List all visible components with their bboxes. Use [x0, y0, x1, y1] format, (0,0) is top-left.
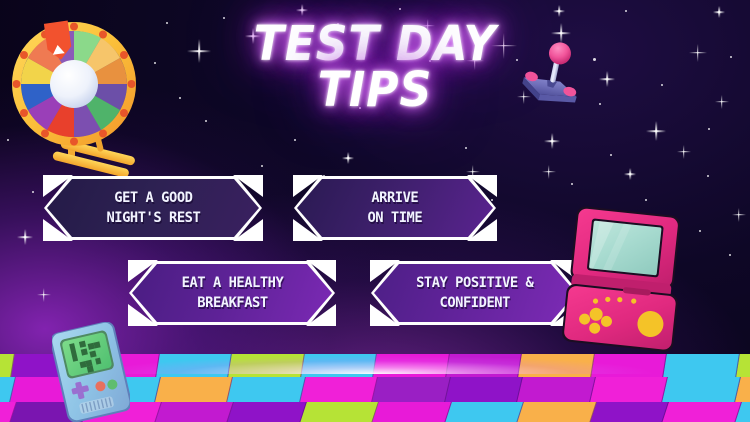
floor-tile	[446, 354, 522, 377]
floor-tile	[154, 402, 234, 422]
star-dot-icon	[294, 139, 297, 142]
sparkle-star-icon	[556, 8, 562, 14]
floor-tile	[663, 354, 739, 377]
sparkle-star-icon	[556, 28, 566, 38]
sparkle-star-icon	[21, 233, 29, 241]
sparkle-star-icon	[497, 39, 510, 52]
tip-card-body: GET A GOOD NIGHT'S REST	[47, 179, 259, 237]
sparkle-star-icon	[693, 48, 702, 57]
sparkle-star-icon	[299, 7, 305, 13]
star-dot-icon	[699, 230, 701, 232]
sparkle-star-icon	[680, 148, 687, 155]
sparkle-star-icon	[718, 98, 725, 105]
star-dot-icon	[429, 60, 432, 63]
tip-card-text: ARRIVE ON TIME	[360, 188, 430, 228]
tip-text-line: BREAKFAST	[181, 293, 283, 313]
tip-text-line: GET A GOOD	[106, 188, 200, 208]
star-dot-icon	[599, 103, 601, 105]
star-dot-icon	[730, 56, 733, 59]
floor-tile	[518, 354, 594, 377]
star-dot-icon	[661, 84, 664, 87]
sparkle-star-icon	[603, 75, 611, 83]
star-dot-icon	[571, 183, 574, 186]
star-dot-icon	[32, 191, 34, 193]
tip-card-breakfast[interactable]: EAT A HEALTHY BREAKFAST	[129, 261, 335, 325]
sparkle-star-icon	[735, 211, 742, 218]
floor-tile	[300, 377, 378, 402]
floor-tile	[444, 402, 524, 422]
tip-card-mindset[interactable]: STAY POSITIVE & CONFIDENT	[371, 261, 579, 325]
tip-text-line: NIGHT'S REST	[106, 208, 200, 228]
sparkle-star-icon	[193, 45, 205, 57]
star-dot-icon	[223, 17, 225, 19]
star-dot-icon	[729, 254, 731, 256]
sparkle-star-icon	[470, 56, 479, 65]
star-dot-icon	[179, 97, 181, 99]
tip-card-body: ARRIVE ON TIME	[297, 179, 493, 237]
floor-tile	[227, 377, 305, 402]
floor-tile	[590, 377, 668, 402]
floor-tile	[301, 354, 377, 377]
tip-text-line: ARRIVE	[368, 188, 423, 208]
star-dot-icon	[166, 22, 169, 25]
star-dot-icon	[205, 120, 207, 122]
star-dot-icon	[707, 175, 709, 177]
star-dot-icon	[610, 154, 612, 156]
tip-card-text: STAY POSITIVE & CONFIDENT	[409, 273, 541, 313]
floor-tile	[736, 354, 750, 377]
tip-card-text: EAT A HEALTHY BREAKFAST	[174, 273, 291, 313]
sparkle-star-icon	[424, 22, 431, 29]
star-dot-icon	[625, 10, 627, 12]
sparkle-star-icon	[345, 155, 351, 161]
floor-tile	[228, 354, 304, 377]
tip-card-body: EAT A HEALTHY BREAKFAST	[132, 264, 332, 322]
floor-tile	[299, 402, 379, 422]
sparkle-star-icon	[627, 171, 633, 177]
star-dot-icon	[645, 199, 647, 201]
floor-tile	[516, 402, 596, 422]
prize-wheel-icon	[8, 12, 148, 180]
floor-tile	[445, 377, 523, 402]
gameboy-console-icon	[52, 322, 130, 422]
star-dot-icon	[359, 107, 361, 109]
tip-card-body: STAY POSITIVE & CONFIDENT	[374, 264, 576, 322]
poster-canvas: TEST DAY TIPS GET A GOOD NIGHT'S REST AR…	[0, 0, 750, 422]
sparkle-star-icon	[469, 168, 476, 175]
tip-text-line: CONFIDENT	[416, 293, 533, 313]
sparkle-star-icon	[651, 126, 661, 136]
floor-tile	[155, 377, 233, 402]
star-dot-icon	[154, 62, 156, 64]
floor-tile	[591, 354, 667, 377]
sparkle-star-icon	[548, 137, 556, 145]
star-dot-icon	[465, 147, 467, 149]
floor-tile	[662, 377, 740, 402]
sparkle-star-icon	[716, 9, 722, 15]
floor-tile	[156, 354, 232, 377]
tip-text-line: ON TIME	[368, 208, 423, 228]
sparkle-star-icon	[545, 168, 552, 175]
star-dot-icon	[261, 165, 263, 167]
handheld-console-icon	[558, 205, 690, 353]
floor-tile	[661, 402, 741, 422]
floor-tile	[226, 402, 306, 422]
floor-tile	[373, 354, 449, 377]
floor-tile	[372, 377, 450, 402]
floor-tile	[517, 377, 595, 402]
sparkle-star-icon	[40, 291, 47, 298]
floor-tile	[589, 402, 669, 422]
star-dot-icon	[708, 128, 710, 130]
star-dot-icon	[337, 23, 339, 25]
arcade-joystick-icon	[515, 38, 595, 110]
tip-card-sleep[interactable]: GET A GOOD NIGHT'S REST	[44, 176, 262, 240]
tip-card-punctual[interactable]: ARRIVE ON TIME	[294, 176, 496, 240]
floor-tile	[371, 402, 451, 422]
sparkle-star-icon	[249, 32, 257, 40]
tip-text-line: EAT A HEALTHY	[181, 273, 283, 293]
star-dot-icon	[399, 8, 401, 10]
tip-text-line: STAY POSITIVE &	[416, 273, 533, 293]
tip-card-text: GET A GOOD NIGHT'S REST	[98, 188, 207, 228]
